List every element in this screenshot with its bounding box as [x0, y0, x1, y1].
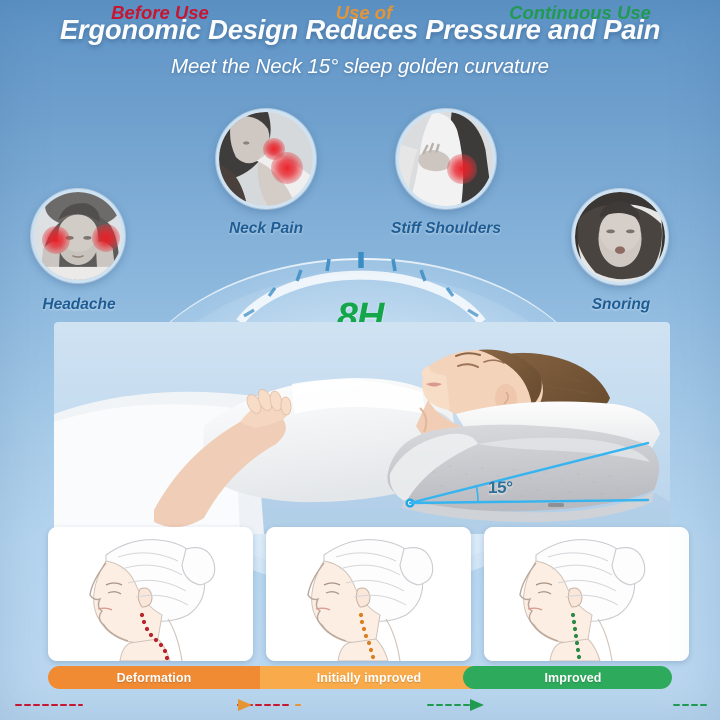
pain-indicator	[447, 154, 477, 184]
phase-arrow-row	[0, 692, 720, 718]
symptom-bubble-stiff-shoulders[interactable]	[396, 109, 496, 209]
status-bar-initially-improved: Initially improved	[258, 666, 480, 689]
phase-label-continuous-use: Continuous Use	[490, 0, 670, 26]
symptom-bubble-headache[interactable]	[31, 189, 125, 283]
infographic-canvas: Ergonomic Design Reduces Pressure and Pa…	[0, 0, 720, 720]
stiff-shoulders-photo	[399, 112, 493, 206]
sleeping-woman-pillow-photo	[54, 322, 670, 534]
comparison-panel-before	[48, 527, 253, 661]
angle-label: 15°	[488, 478, 513, 498]
comparison-panel-initial	[266, 527, 471, 661]
symptom-label-snoring: Snoring	[548, 296, 694, 314]
status-label: Deformation	[117, 671, 192, 685]
status-bar-improved: Improved	[474, 666, 672, 689]
pain-indicator	[92, 224, 120, 252]
snoring-photo	[575, 192, 665, 282]
phase-label-use-of: Use of	[304, 0, 424, 26]
head-profile-improved	[484, 527, 689, 661]
status-label: Improved	[544, 671, 601, 685]
comparison-panel-continuous	[484, 527, 689, 661]
status-label: Initially improved	[317, 671, 422, 685]
symptom-bubble-neck-pain[interactable]	[216, 109, 316, 209]
pain-indicator	[271, 152, 303, 184]
pain-indicator	[42, 226, 70, 254]
symptom-label-neck-pain: Neck Pain	[196, 220, 336, 238]
symptom-label-stiff-shoulders: Stiff Shoulders	[376, 220, 516, 238]
status-bar-deformation: Deformation	[48, 666, 260, 689]
page-subtitle: Meet the Neck 15° sleep golden curvature	[0, 55, 720, 79]
head-profile-initially-improved	[266, 527, 471, 661]
symptom-label-headache: Headache	[6, 296, 152, 314]
head-profile-deformation	[48, 527, 253, 661]
symptom-bubble-snoring[interactable]	[572, 189, 668, 285]
phase-label-before-use: Before Use	[86, 0, 234, 26]
